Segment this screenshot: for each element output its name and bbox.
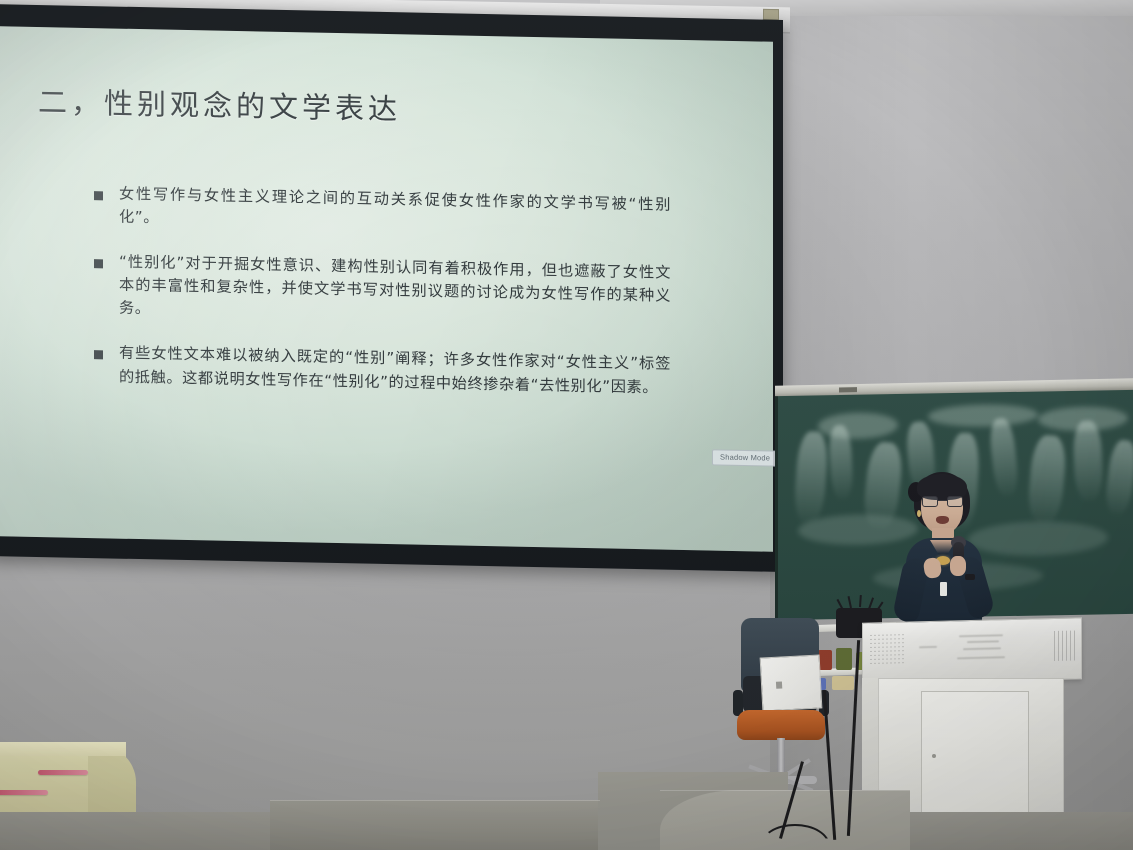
chair-mounted-panel bbox=[760, 654, 823, 711]
shelf-item bbox=[836, 648, 852, 670]
projection-screen: 二，性别观念的文学表达 女性写作与女性主义理论之间的互动关系促使女性作家的文学书… bbox=[0, 4, 783, 572]
front-desk-top-edge bbox=[0, 742, 126, 756]
desk-item bbox=[0, 790, 48, 795]
status-badge: Shadow Mode bbox=[712, 449, 778, 466]
podium-desktop bbox=[862, 617, 1082, 684]
chalk-tray-clip bbox=[839, 387, 857, 392]
bullet-square-icon bbox=[94, 191, 103, 200]
bullet-text: 女性写作与女性主义理论之间的互动关系促使女性作家的文学书写被“性别化”。 bbox=[119, 183, 671, 240]
bullet-square-icon bbox=[94, 259, 103, 268]
screen-roller-endcap bbox=[763, 9, 779, 20]
slide-title: 二，性别观念的文学表达 bbox=[38, 79, 733, 135]
slide-bullet-list: 女性写作与女性主义理论之间的互动关系促使女性作家的文学书写被“性别化”。 “性别… bbox=[36, 181, 733, 401]
clip-badge bbox=[940, 582, 947, 596]
mouth bbox=[936, 516, 949, 524]
wristwatch bbox=[965, 574, 975, 580]
right-hand bbox=[950, 556, 966, 576]
screen-surface: 二，性别观念的文学表达 女性写作与女性主义理论之间的互动关系促使女性作家的文学书… bbox=[0, 26, 773, 552]
list-item: 有些女性文本难以被纳入既定的“性别”阐释；许多女性作家对“女性主义”标签的抵触。… bbox=[94, 342, 733, 401]
lecture-hall-photo: 二，性别观念的文学表达 女性写作与女性主义理论之间的互动关系促使女性作家的文学书… bbox=[0, 0, 1133, 850]
bullet-text: “性别化”对于开掘女性意识、建构性别认同有着积极作用，但也遮蔽了女性文本的丰富性… bbox=[119, 251, 671, 331]
podium-speaker-grille bbox=[869, 633, 905, 666]
bullet-square-icon bbox=[94, 351, 103, 360]
desk-item bbox=[38, 770, 88, 775]
podium-vent-grille bbox=[1054, 630, 1076, 661]
presentation-slide: 二，性别观念的文学表达 女性写作与女性主义理论之间的互动关系促使女性作家的文学书… bbox=[0, 26, 773, 552]
earring bbox=[917, 510, 921, 517]
bullet-text: 有些女性文本难以被纳入既定的“性别”阐释；许多女性作家对“女性主义”标签的抵触。… bbox=[119, 342, 671, 399]
list-item: 女性写作与女性主义理论之间的互动关系促使女性作家的文学书写被“性别化”。 bbox=[94, 182, 733, 241]
chair-seat bbox=[737, 710, 825, 740]
cabinet-knob[interactable] bbox=[932, 754, 936, 758]
glasses-icon bbox=[922, 496, 963, 507]
list-item: “性别化”对于开掘女性意识、建构性别认同有着积极作用，但也遮蔽了女性文本的丰富性… bbox=[94, 250, 733, 332]
